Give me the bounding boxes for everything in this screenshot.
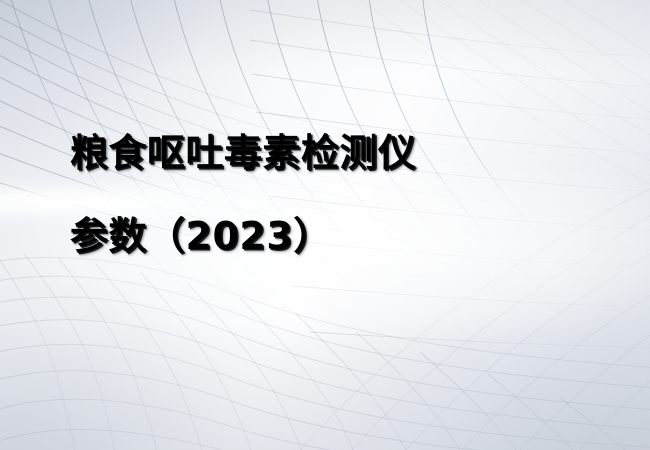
banner-image: 粮食呕吐毒素检测仪 参数（2023） (0, 0, 650, 450)
title-line-2: 参数（2023） (70, 195, 590, 278)
title-line-1: 粮食呕吐毒素检测仪 (70, 112, 590, 195)
title-block: 粮食呕吐毒素检测仪 参数（2023） (70, 112, 590, 278)
